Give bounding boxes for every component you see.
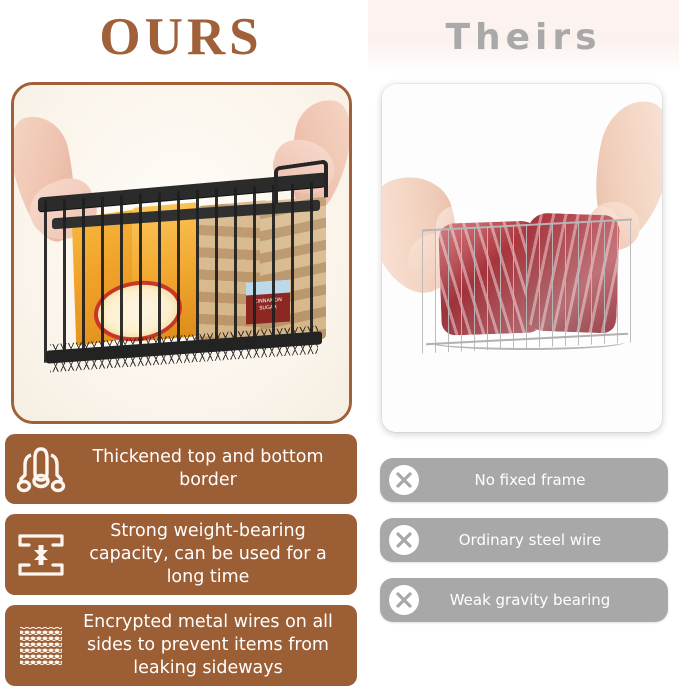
theirs-drawback-3: Weak gravity bearing [380,578,668,622]
ours-feature-1-label: Thickened top and bottom border [69,446,347,492]
theirs-title: Theirs [368,8,679,66]
theirs-product-photo [382,84,662,432]
ours-feature-2-label: Strong weight-bearing capacity, can be u… [69,520,347,589]
ours-column: OURS CINNAMON SUGAR [0,0,362,690]
weight-bearing-icon [13,527,69,583]
ours-feature-3: Encrypted metal wires on all sides to pr… [5,605,357,686]
comparison-infographic: OURS CINNAMON SUGAR [0,0,679,690]
ours-title: OURS [0,4,362,70]
ours-feature-3-label: Encrypted metal wires on all sides to pr… [69,611,347,680]
theirs-drawback-1-label: No fixed frame [422,471,668,489]
black-wire-basket: CINNAMON SUGAR [28,185,334,377]
ours-feature-list: Thickened top and bottom border [5,434,357,696]
x-circle-icon [386,462,422,498]
ours-feature-1: Thickened top and bottom border [5,434,357,504]
thin-silver-wire-basket [422,224,632,348]
thickened-border-icon [13,441,69,497]
wire-mesh-icon [13,618,69,674]
ours-product-photo: CINNAMON SUGAR [11,82,352,424]
x-circle-icon [386,522,422,558]
theirs-drawback-3-label: Weak gravity bearing [422,591,668,609]
theirs-drawback-2: Ordinary steel wire [380,518,668,562]
basket-sagging-bottom [428,334,625,350]
basket-handle [274,159,328,205]
theirs-drawback-1: No fixed frame [380,458,668,502]
theirs-drawback-2-label: Ordinary steel wire [422,531,668,549]
ours-feature-2: Strong weight-bearing capacity, can be u… [5,514,357,595]
theirs-column: Theirs [362,0,679,690]
theirs-drawback-list: No fixed frame Ordinary steel wire [380,458,668,638]
x-circle-icon [386,582,422,618]
